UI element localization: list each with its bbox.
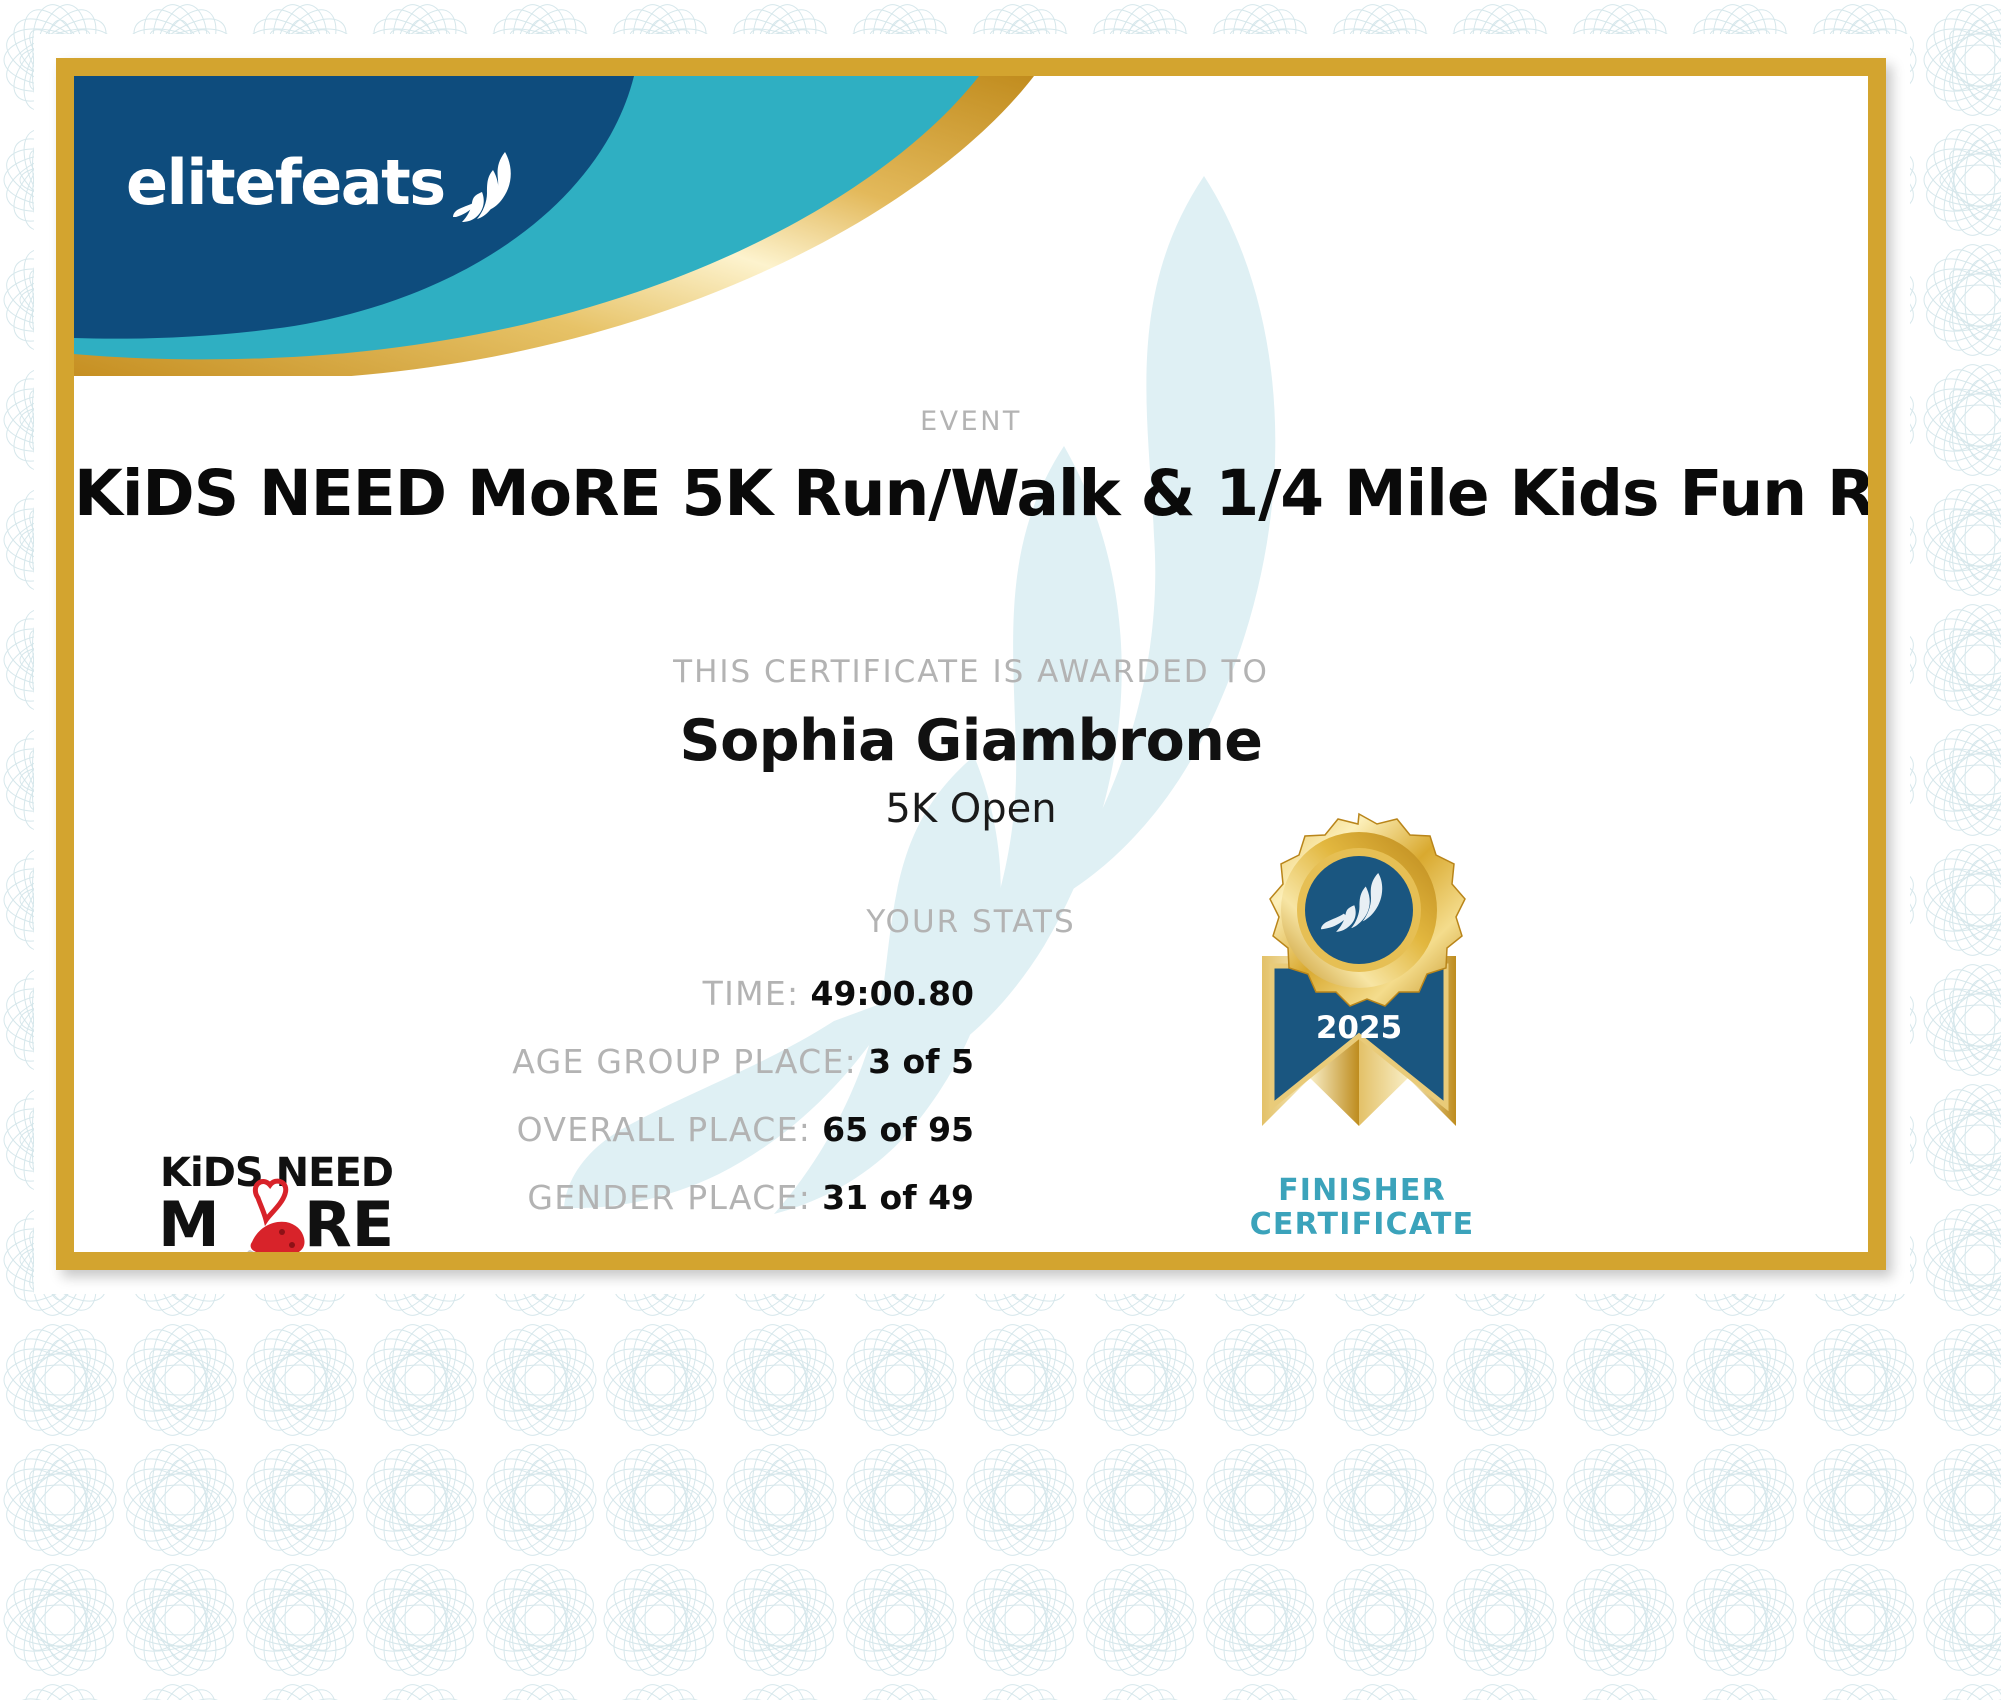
- your-stats-label: YOUR STATS: [74, 904, 1868, 940]
- stat-key: TIME:: [703, 974, 800, 1013]
- stat-value: 65 of 95: [822, 1110, 974, 1149]
- medal-caption-line2: CERTIFICATE: [1152, 1208, 1572, 1242]
- stats-list: TIME: 49:00.80 AGE GROUP PLACE: 3 of 5 O…: [414, 974, 974, 1246]
- stat-value: 49:00.80: [810, 974, 974, 1013]
- red-sneaker-icon: [247, 1222, 306, 1252]
- finisher-medal-badge: 2025: [1214, 806, 1504, 1156]
- stat-row: TIME: 49:00.80: [414, 974, 974, 1013]
- sponsor-line2-right: RE: [304, 1188, 394, 1252]
- stat-value: 3 of 5: [868, 1042, 974, 1081]
- medal-caption: FINISHER CERTIFICATE: [1152, 1174, 1572, 1242]
- certificate-frame: elitefeats EVENT KiDS NEED MoRE 5K Run/W…: [56, 58, 1886, 1270]
- event-title: KiDS NEED MoRE 5K Run/Walk & 1/4 Mile Ki…: [74, 457, 1868, 530]
- event-label: EVENT: [74, 406, 1868, 437]
- stat-key: GENDER PLACE:: [527, 1178, 811, 1217]
- medal-caption-line1: FINISHER: [1152, 1174, 1572, 1208]
- sponsor-logo-kids-need-more: KiDS NEED M RE Motivational Recovery Env…: [154, 1146, 422, 1252]
- stat-row: GENDER PLACE: 31 of 49: [414, 1178, 974, 1217]
- recipient-division: 5K Open: [74, 786, 1868, 832]
- stat-value: 31 of 49: [822, 1178, 974, 1217]
- stat-key: AGE GROUP PLACE:: [512, 1042, 857, 1081]
- awarded-to-label: THIS CERTIFICATE IS AWARDED TO: [74, 654, 1868, 690]
- recipient-name: Sophia Giambrone: [74, 708, 1868, 774]
- stat-key: OVERALL PLACE:: [517, 1110, 812, 1149]
- certificate-body: elitefeats EVENT KiDS NEED MoRE 5K Run/W…: [74, 76, 1868, 1252]
- winged-foot-icon: [453, 150, 523, 222]
- stat-row: AGE GROUP PLACE: 3 of 5: [414, 1042, 974, 1081]
- sponsor-line2-left: M: [158, 1188, 220, 1252]
- elitefeats-logo-text: elitefeats: [126, 152, 445, 214]
- stat-row: OVERALL PLACE: 65 of 95: [414, 1110, 974, 1149]
- medal-year: 2025: [1316, 1010, 1402, 1046]
- elitefeats-logo: elitefeats: [126, 144, 523, 222]
